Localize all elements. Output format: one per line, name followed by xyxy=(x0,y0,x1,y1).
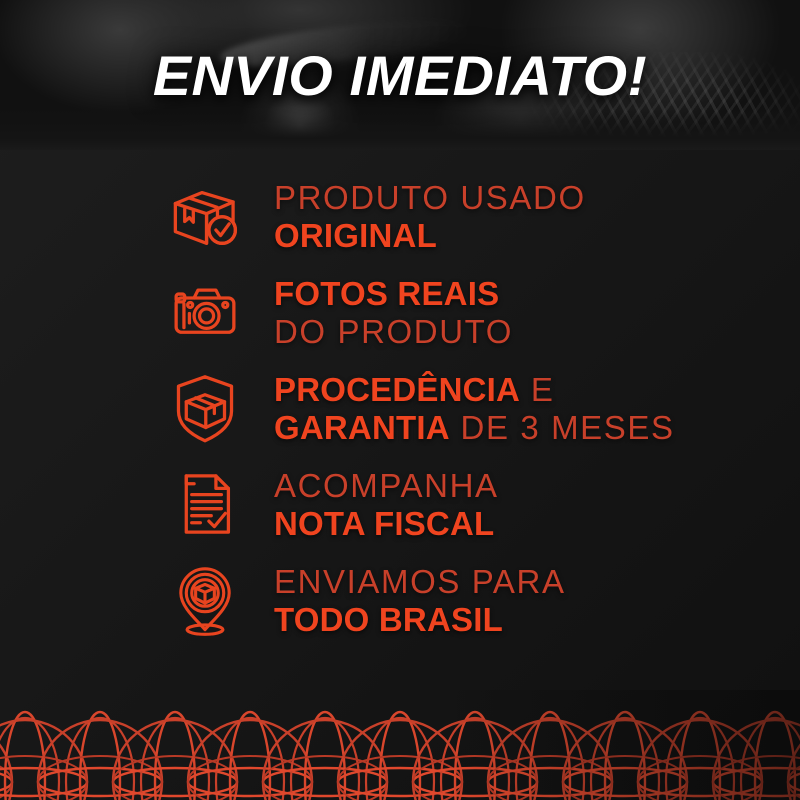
page-title: ENVIO IMEDIATO! xyxy=(0,0,800,150)
invoice-check-icon xyxy=(166,465,244,543)
feature-line-1: PRODUTO USADO xyxy=(274,181,586,214)
feature-text-part: ACOMPANHA xyxy=(274,467,499,504)
feature-line-1: PROCEDÊNCIA E xyxy=(274,373,675,406)
feature-list: PRODUTO USADO ORIGINAL xyxy=(0,168,800,648)
feature-line-1: FOTOS REAIS xyxy=(274,277,513,310)
footer-ornament-pattern xyxy=(0,690,800,800)
feature-text-part: ORIGINAL xyxy=(274,217,437,254)
feature-row: FOTOS REAIS DO PRODUTO xyxy=(0,264,800,360)
feature-line-2: NOTA FISCAL xyxy=(274,507,499,540)
feature-line-1: ENVIAMOS PARA xyxy=(274,565,566,598)
box-check-icon xyxy=(166,177,244,255)
feature-row: PROCEDÊNCIA E GARANTIA DE 3 MESES xyxy=(0,360,800,456)
feature-text-part: DO PRODUTO xyxy=(274,313,513,350)
camera-icon xyxy=(166,273,244,351)
feature-text: ACOMPANHA NOTA FISCAL xyxy=(274,469,499,540)
feature-text: PROCEDÊNCIA E GARANTIA DE 3 MESES xyxy=(274,373,675,444)
feature-text-part: PRODUTO USADO xyxy=(274,179,586,216)
feature-text-part: DE 3 MESES xyxy=(450,409,675,446)
feature-row: ACOMPANHA NOTA FISCAL xyxy=(0,456,800,552)
feature-row: ENVIAMOS PARA TODO BRASIL xyxy=(0,552,800,648)
feature-text-part: GARANTIA xyxy=(274,409,450,446)
feature-text-part: TODO BRASIL xyxy=(274,601,503,638)
feature-line-1: ACOMPANHA xyxy=(274,469,499,502)
feature-text-part: FOTOS REAIS xyxy=(274,275,499,312)
feature-row: PRODUTO USADO ORIGINAL xyxy=(0,168,800,264)
feature-line-2: DO PRODUTO xyxy=(274,315,513,348)
location-pin-box-icon xyxy=(166,561,244,639)
feature-line-2: TODO BRASIL xyxy=(274,603,566,636)
feature-text-part: ENVIAMOS PARA xyxy=(274,563,566,600)
feature-text-part: NOTA FISCAL xyxy=(274,505,494,542)
feature-text-part: E xyxy=(520,371,554,408)
shield-box-icon xyxy=(166,369,244,447)
feature-text: ENVIAMOS PARA TODO BRASIL xyxy=(274,565,566,636)
promo-banner: ENVIO IMEDIATO! PRODUT xyxy=(0,0,800,800)
feature-text-part: PROCEDÊNCIA xyxy=(274,371,520,408)
feature-text: PRODUTO USADO ORIGINAL xyxy=(274,181,586,252)
banner-header: ENVIO IMEDIATO! xyxy=(0,0,800,150)
feature-text: FOTOS REAIS DO PRODUTO xyxy=(274,277,513,348)
feature-line-2: GARANTIA DE 3 MESES xyxy=(274,411,675,444)
feature-line-2: ORIGINAL xyxy=(274,219,586,252)
